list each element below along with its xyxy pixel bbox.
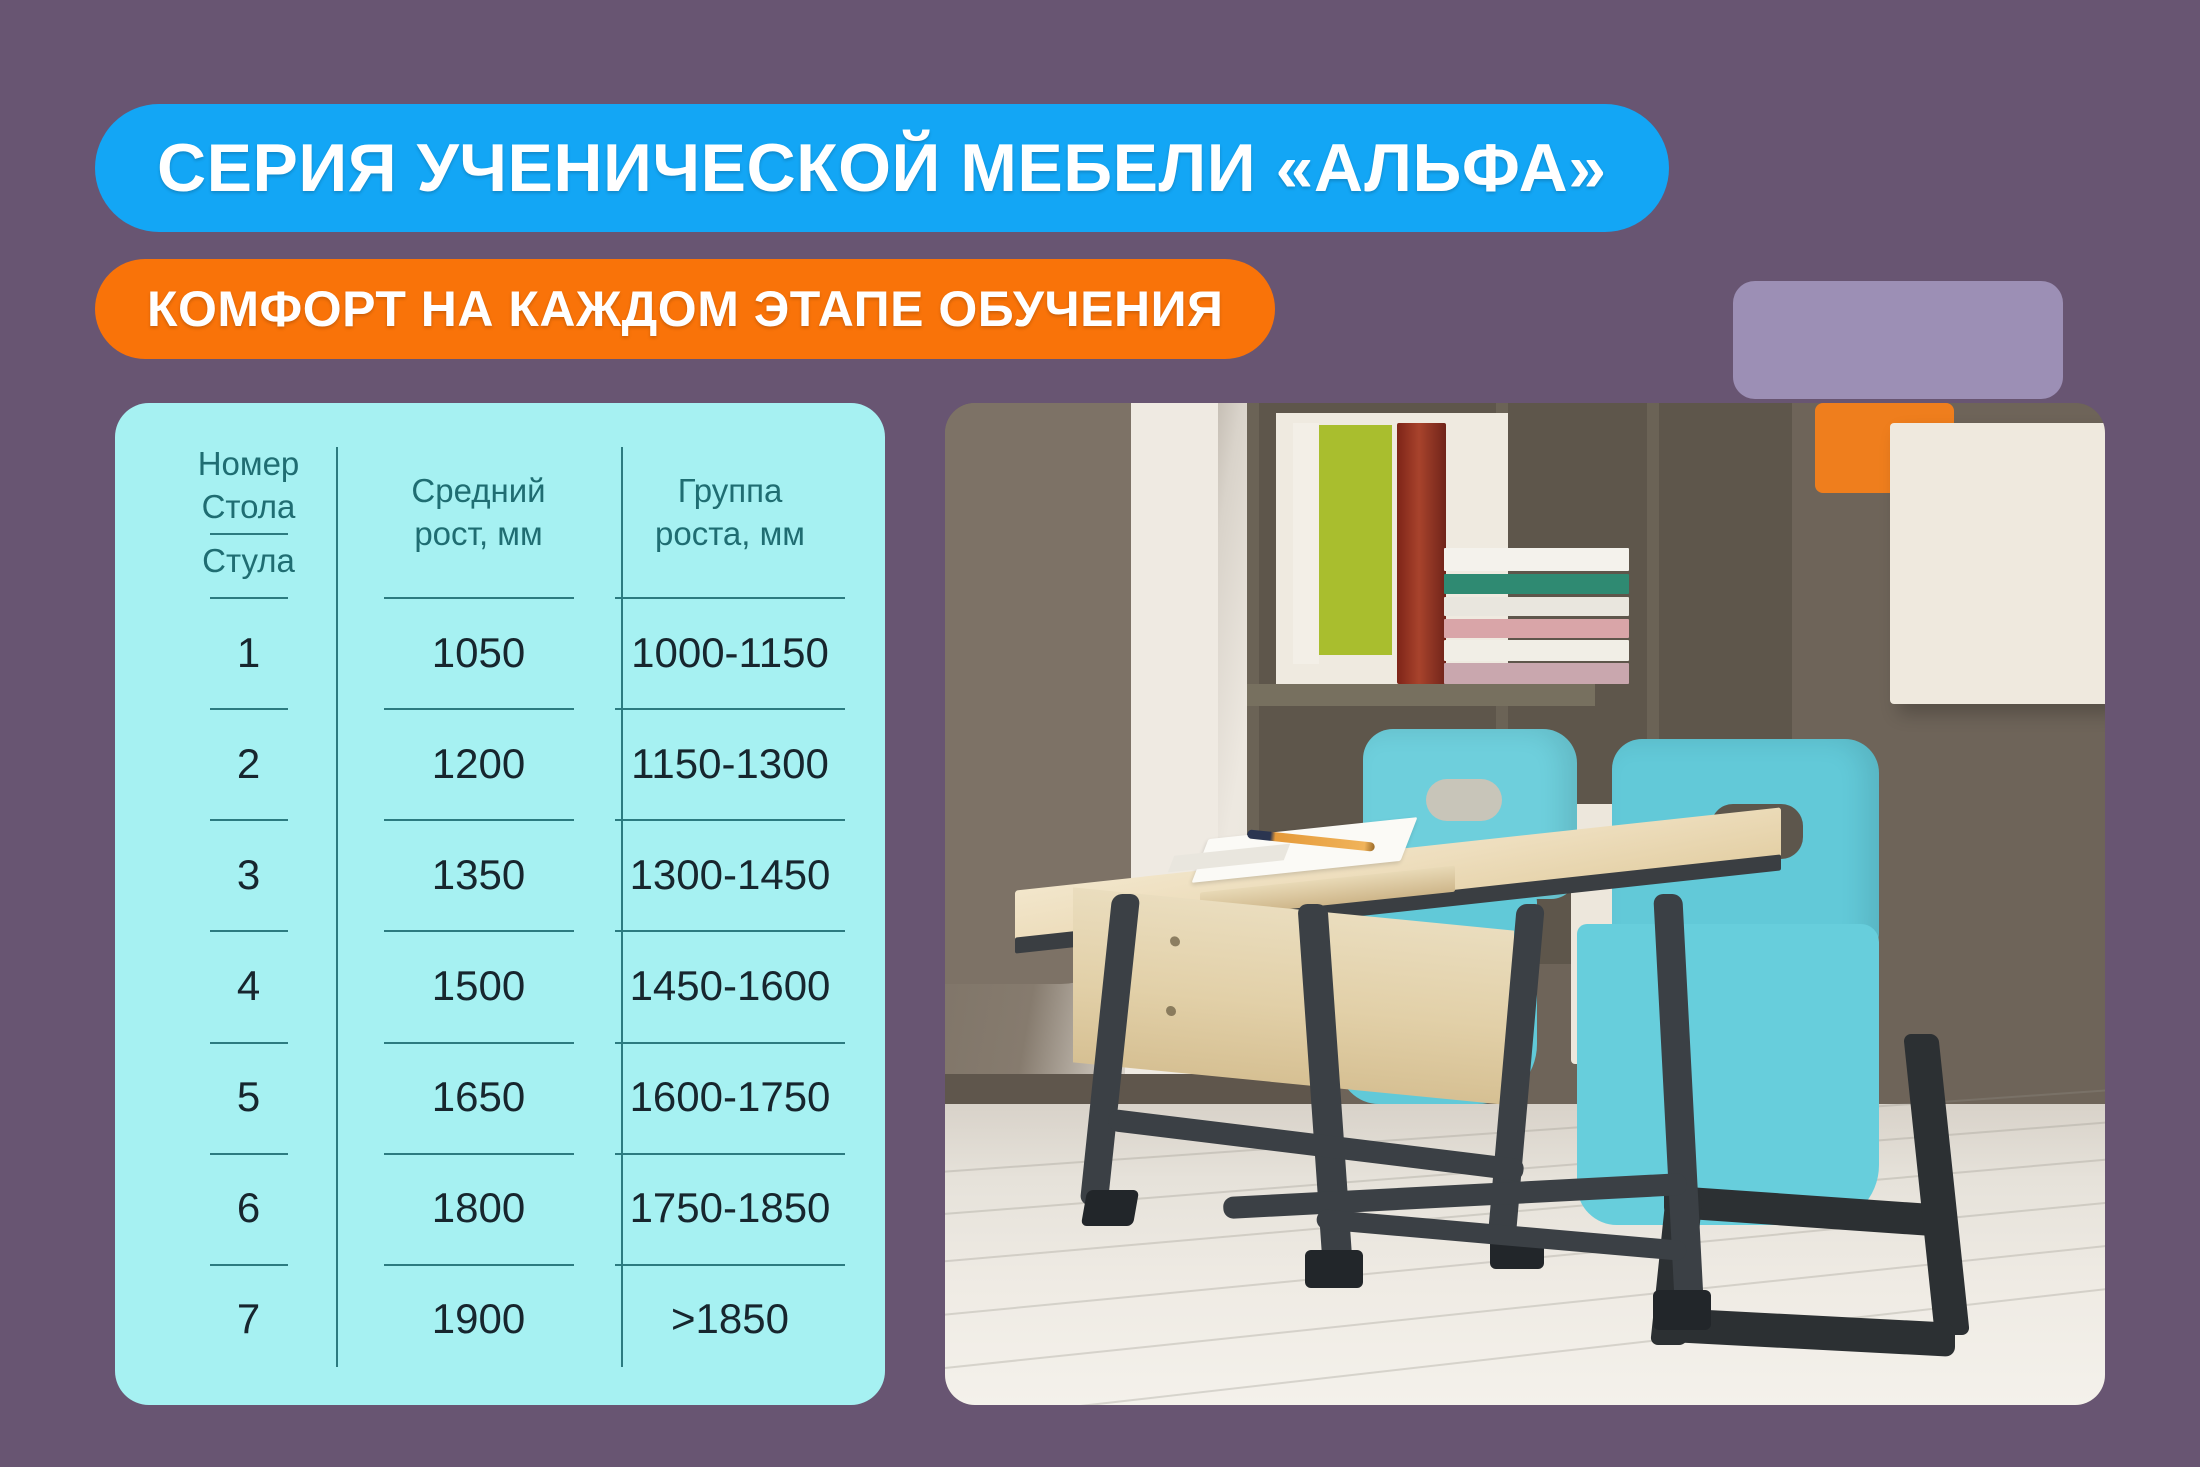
value-height-group: 1600-1750 xyxy=(630,1076,831,1118)
value-number: 6 xyxy=(237,1187,260,1229)
value-average-height: 1350 xyxy=(432,854,525,896)
value-number: 5 xyxy=(237,1076,260,1118)
value-average-height: 1900 xyxy=(432,1298,525,1340)
cell-rule xyxy=(210,1264,288,1266)
cell-rule xyxy=(384,930,574,932)
poster-title-banner: СЕРИЯ УЧЕНИЧЕСКОЙ МЕБЕЛИ «АЛЬФА» xyxy=(95,104,1669,232)
table-row: 3 1350 1300-1450 xyxy=(161,819,839,930)
page-title: СЕРИЯ УЧЕНИЧЕСКОЙ МЕБЕЛИ «АЛЬФА» xyxy=(157,129,1607,207)
size-table: Номер Стола Стула Средний рост, мм Групп… xyxy=(115,403,885,1405)
cell-rule xyxy=(210,597,288,599)
cell-number: 1 xyxy=(161,597,336,708)
cell-number: 6 xyxy=(161,1153,336,1264)
desk-foot-back-right xyxy=(1653,1290,1711,1330)
header-group-line1: Группа xyxy=(678,470,783,513)
table-header-cell-height-group: Группа роста, мм xyxy=(621,429,839,597)
book-stack xyxy=(1444,548,1630,683)
cell-rule xyxy=(210,819,288,821)
cell-rule xyxy=(384,1042,574,1044)
cell-average-height: 1500 xyxy=(336,930,621,1041)
value-average-height: 1800 xyxy=(432,1187,525,1229)
value-average-height: 1500 xyxy=(432,965,525,1007)
table-header-row: Номер Стола Стула Средний рост, мм Групп… xyxy=(161,429,839,597)
red-book xyxy=(1397,423,1446,684)
chair-handle-far xyxy=(1426,779,1501,821)
decorative-rounded-rect xyxy=(1733,281,2063,399)
cell-height-group: 1600-1750 xyxy=(621,1042,839,1153)
header-desk-label: Стола xyxy=(202,486,296,529)
desk-foot-front-left xyxy=(1081,1190,1140,1226)
header-chair-label: Стула xyxy=(202,540,295,583)
cell-average-height: 1650 xyxy=(336,1042,621,1153)
table-row: 5 1650 1600-1750 xyxy=(161,1042,839,1153)
value-number: 2 xyxy=(237,743,260,785)
value-average-height: 1050 xyxy=(432,632,525,674)
table-header-cell-number: Номер Стола Стула xyxy=(161,429,336,597)
cell-average-height: 1200 xyxy=(336,708,621,819)
cell-number: 4 xyxy=(161,930,336,1041)
cell-rule xyxy=(615,597,845,599)
value-number: 3 xyxy=(237,854,260,896)
cell-height-group: >1850 xyxy=(621,1264,839,1375)
cell-number: 7 xyxy=(161,1264,336,1375)
cell-rule xyxy=(615,1153,845,1155)
page-subtitle: КОМФОРТ НА КАЖДОМ ЭТАПЕ ОБУЧЕНИЯ xyxy=(147,280,1223,338)
value-number: 1 xyxy=(237,632,260,674)
table-row: 2 1200 1150-1300 xyxy=(161,708,839,819)
cell-rule xyxy=(615,819,845,821)
cell-height-group: 1450-1600 xyxy=(621,930,839,1041)
cell-rule xyxy=(210,930,288,932)
cell-number: 2 xyxy=(161,708,336,819)
cell-average-height: 1900 xyxy=(336,1264,621,1375)
header-group-line2: роста, мм xyxy=(655,513,805,556)
desk-foot-front-right xyxy=(1305,1250,1363,1288)
shelf-board xyxy=(1247,684,1595,706)
value-height-group: >1850 xyxy=(671,1298,789,1340)
cell-average-height: 1050 xyxy=(336,597,621,708)
value-average-height: 1200 xyxy=(432,743,525,785)
header-average-line2: рост, мм xyxy=(414,513,542,556)
cell-rule xyxy=(210,1042,288,1044)
cell-number: 5 xyxy=(161,1042,336,1153)
table-header-cell-average-height: Средний рост, мм xyxy=(336,429,621,597)
cell-rule xyxy=(384,1264,574,1266)
cell-height-group: 1300-1450 xyxy=(621,819,839,930)
classroom-photo xyxy=(945,403,2105,1405)
cell-rule xyxy=(210,1153,288,1155)
cell-rule xyxy=(615,1264,845,1266)
value-number: 7 xyxy=(237,1298,260,1340)
header-number-label: Номер xyxy=(198,443,300,486)
value-height-group: 1000-1150 xyxy=(631,632,829,674)
cell-rule xyxy=(615,1042,845,1044)
cell-rule xyxy=(384,708,574,710)
cell-rule xyxy=(615,930,845,932)
table-row: 6 1800 1750-1850 xyxy=(161,1153,839,1264)
value-number: 4 xyxy=(237,965,260,1007)
value-height-group: 1750-1850 xyxy=(630,1187,831,1229)
value-average-height: 1650 xyxy=(432,1076,525,1118)
size-table-card: Номер Стола Стула Средний рост, мм Групп… xyxy=(115,403,885,1405)
cell-rule xyxy=(210,708,288,710)
cell-height-group: 1750-1850 xyxy=(621,1153,839,1264)
cell-number: 3 xyxy=(161,819,336,930)
table-row: 7 1900 >1850 xyxy=(161,1264,839,1375)
table-row: 4 1500 1450-1600 xyxy=(161,930,839,1041)
cell-rule xyxy=(384,597,574,599)
cell-rule xyxy=(615,708,845,710)
table-row: 1 1050 1000-1150 xyxy=(161,597,839,708)
whiteboard xyxy=(1890,423,2105,704)
value-height-group: 1300-1450 xyxy=(630,854,831,896)
cell-rule xyxy=(384,1153,574,1155)
poster-canvas: СЕРИЯ УЧЕНИЧЕСКОЙ МЕБЕЛИ «АЛЬФА» КОМФОРТ… xyxy=(0,0,2200,1467)
cell-height-group: 1150-1300 xyxy=(621,708,839,819)
poster-subtitle-banner: КОМФОРТ НА КАЖДОМ ЭТАПЕ ОБУЧЕНИЯ xyxy=(95,259,1275,359)
cell-height-group: 1000-1150 xyxy=(621,597,839,708)
cell-rule xyxy=(384,819,574,821)
fraction-divider xyxy=(210,533,288,535)
white-binder xyxy=(1293,423,1319,663)
value-height-group: 1450-1600 xyxy=(630,965,831,1007)
header-average-line1: Средний xyxy=(411,470,545,513)
value-height-group: 1150-1300 xyxy=(631,743,829,785)
cell-average-height: 1350 xyxy=(336,819,621,930)
cell-average-height: 1800 xyxy=(336,1153,621,1264)
